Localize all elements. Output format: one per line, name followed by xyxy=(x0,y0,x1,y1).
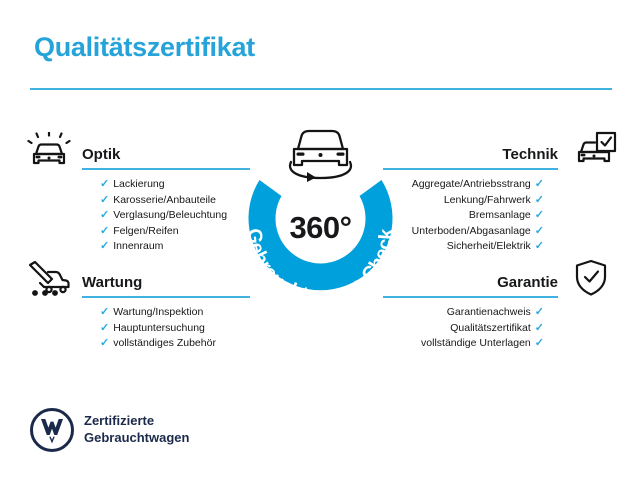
list-item: Lenkung/Fahrwerk✓ xyxy=(383,193,544,209)
section-divider xyxy=(82,296,250,298)
list-item: ✓Felgen/Reifen xyxy=(100,224,250,240)
list-item-label: Wartung/Inspektion xyxy=(113,306,203,318)
title-divider xyxy=(30,88,612,90)
section-header: Wartung xyxy=(82,268,250,298)
check-icon: ✓ xyxy=(100,337,109,349)
list-item-label: Bremsanlage xyxy=(469,209,531,221)
list-item-label: Sicherheit/Elektrik xyxy=(447,240,531,252)
list-item: Qualitätszertifikat✓ xyxy=(383,321,544,337)
section-header: Garantie xyxy=(383,268,558,298)
list-item: ✓Lackierung xyxy=(100,177,250,193)
list-item: ✓Innenraum xyxy=(100,239,250,255)
section-header: Optik xyxy=(82,140,250,170)
list-item-label: Karosserie/Anbauteile xyxy=(113,194,216,206)
list-item-label: Innenraum xyxy=(113,240,163,252)
section-title-garantie: Garantie xyxy=(497,274,558,291)
list-item-label: Lackierung xyxy=(113,178,164,190)
checklist-technik: Aggregate/Antriebsstrang✓ Lenkung/Fahrwe… xyxy=(383,177,558,255)
vw-logo xyxy=(30,408,74,452)
section-header: Technik xyxy=(383,140,558,170)
check-icon: ✓ xyxy=(535,225,544,237)
list-item-label: Aggregate/Antriebsstrang xyxy=(412,178,531,190)
section-optik: Optik ✓Lackierung ✓Karosserie/Anbauteile… xyxy=(82,140,250,255)
check-icon: ✓ xyxy=(535,178,544,190)
section-title-wartung: Wartung xyxy=(82,274,142,291)
check-icon: ✓ xyxy=(100,225,109,237)
list-item-label: Lenkung/Fahrwerk xyxy=(444,194,531,206)
car-shine-icon xyxy=(26,132,72,172)
car-rotate-icon xyxy=(290,131,351,182)
checklist-optik: ✓Lackierung ✓Karosserie/Anbauteile ✓Verg… xyxy=(82,177,250,255)
list-item: Unterboden/Abgasanlage✓ xyxy=(383,224,544,240)
section-divider xyxy=(383,296,558,298)
list-item-label: Hauptuntersuchung xyxy=(113,322,205,334)
section-title-technik: Technik xyxy=(502,146,558,163)
list-item: ✓Wartung/Inspektion xyxy=(100,305,250,321)
car-checkbox-icon xyxy=(572,130,618,170)
check-icon: ✓ xyxy=(100,306,109,318)
list-item-label: Garantienachweis xyxy=(447,306,531,318)
list-item-label: vollständiges Zubehör xyxy=(113,337,216,349)
list-item: Aggregate/Antriebsstrang✓ xyxy=(383,177,544,193)
shield-check-icon xyxy=(568,258,614,298)
section-title-optik: Optik xyxy=(82,146,120,163)
car-wrench-icon xyxy=(26,260,72,300)
check-icon: ✓ xyxy=(535,322,544,334)
footer-line-2: Gebrauchtwagen xyxy=(84,429,189,446)
list-item: ✓Hauptuntersuchung xyxy=(100,321,250,337)
check-icon: ✓ xyxy=(100,178,109,190)
list-item-label: Felgen/Reifen xyxy=(113,225,178,237)
list-item-label: Unterboden/Abgasanlage xyxy=(412,225,531,237)
check-icon: ✓ xyxy=(100,209,109,221)
list-item: Sicherheit/Elektrik✓ xyxy=(383,239,544,255)
check-icon: ✓ xyxy=(100,322,109,334)
section-divider xyxy=(383,168,558,170)
section-garantie: Garantie Garantienachweis✓ Qualitätszert… xyxy=(383,268,558,352)
check-icon: ✓ xyxy=(535,194,544,206)
list-item: ✓Verglasung/Beleuchtung xyxy=(100,208,250,224)
checklist-garantie: Garantienachweis✓ Qualitätszertifikat✓ v… xyxy=(383,305,558,352)
list-item: ✓vollständiges Zubehör xyxy=(100,336,250,352)
footer-line-1: Zertifizierte xyxy=(84,412,189,429)
section-divider xyxy=(82,168,250,170)
check-icon: ✓ xyxy=(535,306,544,318)
check-icon: ✓ xyxy=(535,337,544,349)
footer-brand-text: Zertifizierte Gebrauchtwagen xyxy=(84,412,189,446)
list-item: vollständige Unterlagen✓ xyxy=(383,336,544,352)
list-item-label: Qualitätszertifikat xyxy=(450,322,531,334)
check-icon: ✓ xyxy=(535,240,544,252)
check-icon: ✓ xyxy=(100,194,109,206)
check-icon: ✓ xyxy=(535,209,544,221)
check-icon: ✓ xyxy=(100,240,109,252)
list-item: Garantienachweis✓ xyxy=(383,305,544,321)
section-technik: Technik Aggregate/Antriebsstrang✓ Lenkun… xyxy=(383,140,558,255)
list-item: ✓Karosserie/Anbauteile xyxy=(100,193,250,209)
list-item-label: Verglasung/Beleuchtung xyxy=(113,209,227,221)
list-item: Bremsanlage✓ xyxy=(383,208,544,224)
list-item-label: vollständige Unterlagen xyxy=(421,337,531,349)
page-title: Qualitätszertifikat xyxy=(34,32,255,63)
section-wartung: Wartung ✓Wartung/Inspektion ✓Hauptunters… xyxy=(82,268,250,352)
checklist-wartung: ✓Wartung/Inspektion ✓Hauptuntersuchung ✓… xyxy=(82,305,250,352)
